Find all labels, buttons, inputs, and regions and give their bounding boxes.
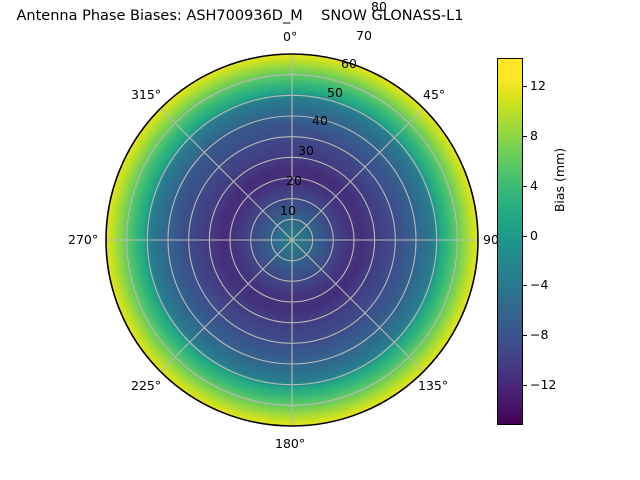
radial-tick-10: 10	[280, 204, 296, 218]
figure-canvas: Antenna Phase Biases: ASH700936D_M SNOW …	[0, 0, 640, 480]
radial-tick-20: 20	[286, 174, 302, 188]
radial-tick-80: 80	[371, 0, 387, 14]
angular-tick-45: 45°	[423, 88, 445, 102]
colorbar-ticks: −12 −8 −4 0 4 8 12	[523, 58, 583, 425]
radial-tick-70: 70	[356, 29, 372, 43]
radial-tick-60: 60	[341, 57, 357, 71]
polar-plot[interactable]: 10 20 30 40 50 60 70 80 90	[105, 53, 479, 427]
polar-plot-canvas	[105, 53, 479, 427]
page-title: Antenna Phase Biases: ASH700936D_M SNOW …	[0, 6, 480, 26]
colorbar-gradient	[497, 58, 523, 425]
angular-tick-180: 180°	[275, 437, 305, 451]
colorbar[interactable]: −12 −8 −4 0 4 8 12	[497, 58, 523, 425]
angular-tick-0: 0°	[283, 30, 297, 44]
radial-tick-30: 30	[298, 144, 314, 158]
angular-tick-315: 315°	[131, 88, 161, 102]
angular-tick-270: 270°	[68, 233, 98, 247]
radial-tick-50: 50	[327, 86, 343, 100]
angular-tick-135: 135°	[418, 379, 448, 393]
polar-grid-spokes	[106, 54, 478, 426]
colorbar-axis-label: Bias (mm)	[552, 148, 567, 212]
angular-tick-225: 225°	[131, 379, 161, 393]
radial-tick-40: 40	[312, 114, 328, 128]
